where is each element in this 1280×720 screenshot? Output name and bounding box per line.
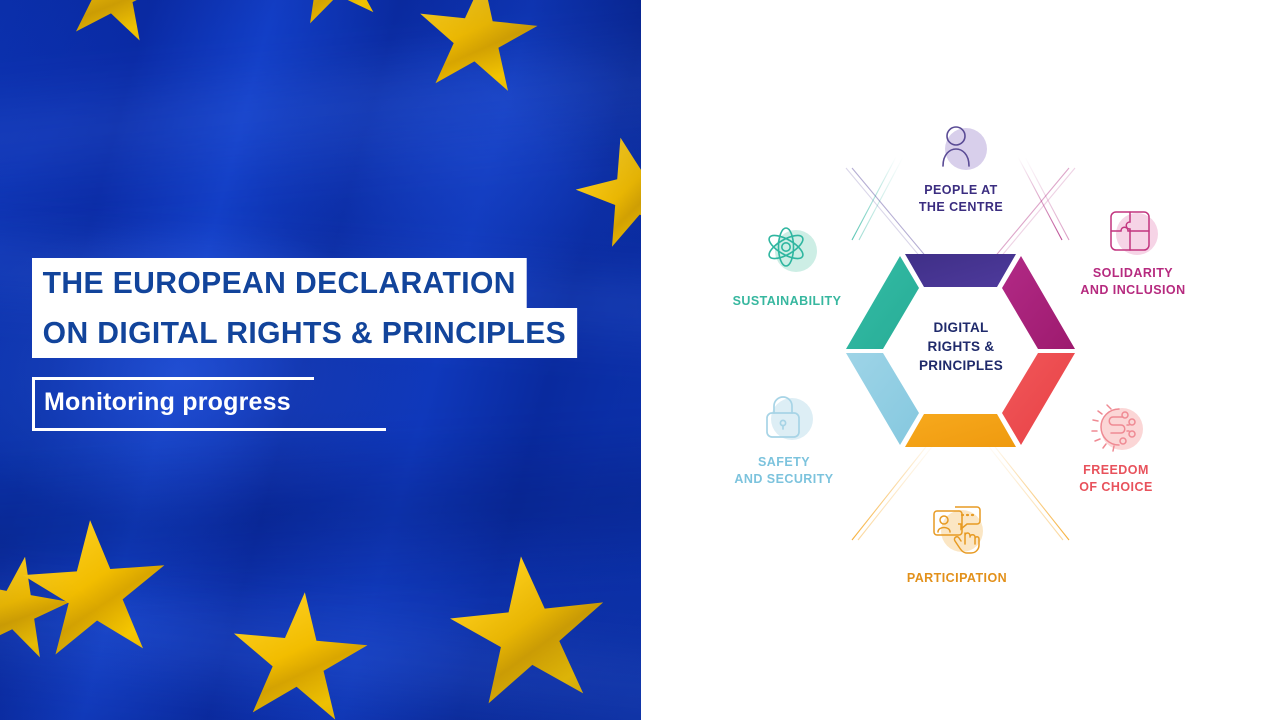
hex-label-people-at-the-centre[interactable]: PEOPLE AT THE CENTRE xyxy=(871,182,1051,216)
diagram-center-label: DIGITAL RIGHTS & PRINCIPLES xyxy=(907,318,1015,375)
hex-segment-people-at-the-centre[interactable] xyxy=(905,254,1016,287)
person-icon xyxy=(933,120,989,176)
hex-label-safety-and-security[interactable]: SAFETY AND SECURITY xyxy=(694,454,874,488)
slide-root: THE EUROPEAN DECLARATION ON DIGITAL RIGH… xyxy=(0,0,1280,720)
hex-label-sustainability[interactable]: SUSTAINABILITY xyxy=(697,293,877,310)
slide-subtitle-box: Monitoring progress xyxy=(32,377,314,431)
title-line-2: ON DIGITAL RIGHTS & PRINCIPLES xyxy=(32,308,577,358)
padlock-icon xyxy=(759,390,815,446)
hex-segment-participation[interactable] xyxy=(905,414,1016,447)
participation-icon xyxy=(929,502,985,558)
hex-label-solidarity-and-inclusion[interactable]: SOLIDARITY AND INCLUSION xyxy=(1043,265,1223,299)
slide-title: THE EUROPEAN DECLARATION ON DIGITAL RIGH… xyxy=(32,258,594,358)
diagram-panel: DIGITAL RIGHTS & PRINCIPLES PEOPLE AT TH… xyxy=(641,0,1280,720)
gear-circuit-icon xyxy=(1089,400,1145,456)
slide-subtitle: Monitoring progress xyxy=(44,388,291,417)
hex-label-freedom-of-choice[interactable]: FREEDOM OF CHOICE xyxy=(1026,462,1206,496)
eu-flag-panel: THE EUROPEAN DECLARATION ON DIGITAL RIGH… xyxy=(0,0,641,720)
atom-icon xyxy=(763,222,819,278)
hex-label-participation[interactable]: PARTICIPATION xyxy=(867,570,1047,587)
puzzle-icon xyxy=(1104,205,1160,261)
title-line-1: THE EUROPEAN DECLARATION xyxy=(32,258,527,308)
flag-vignette xyxy=(0,0,641,720)
